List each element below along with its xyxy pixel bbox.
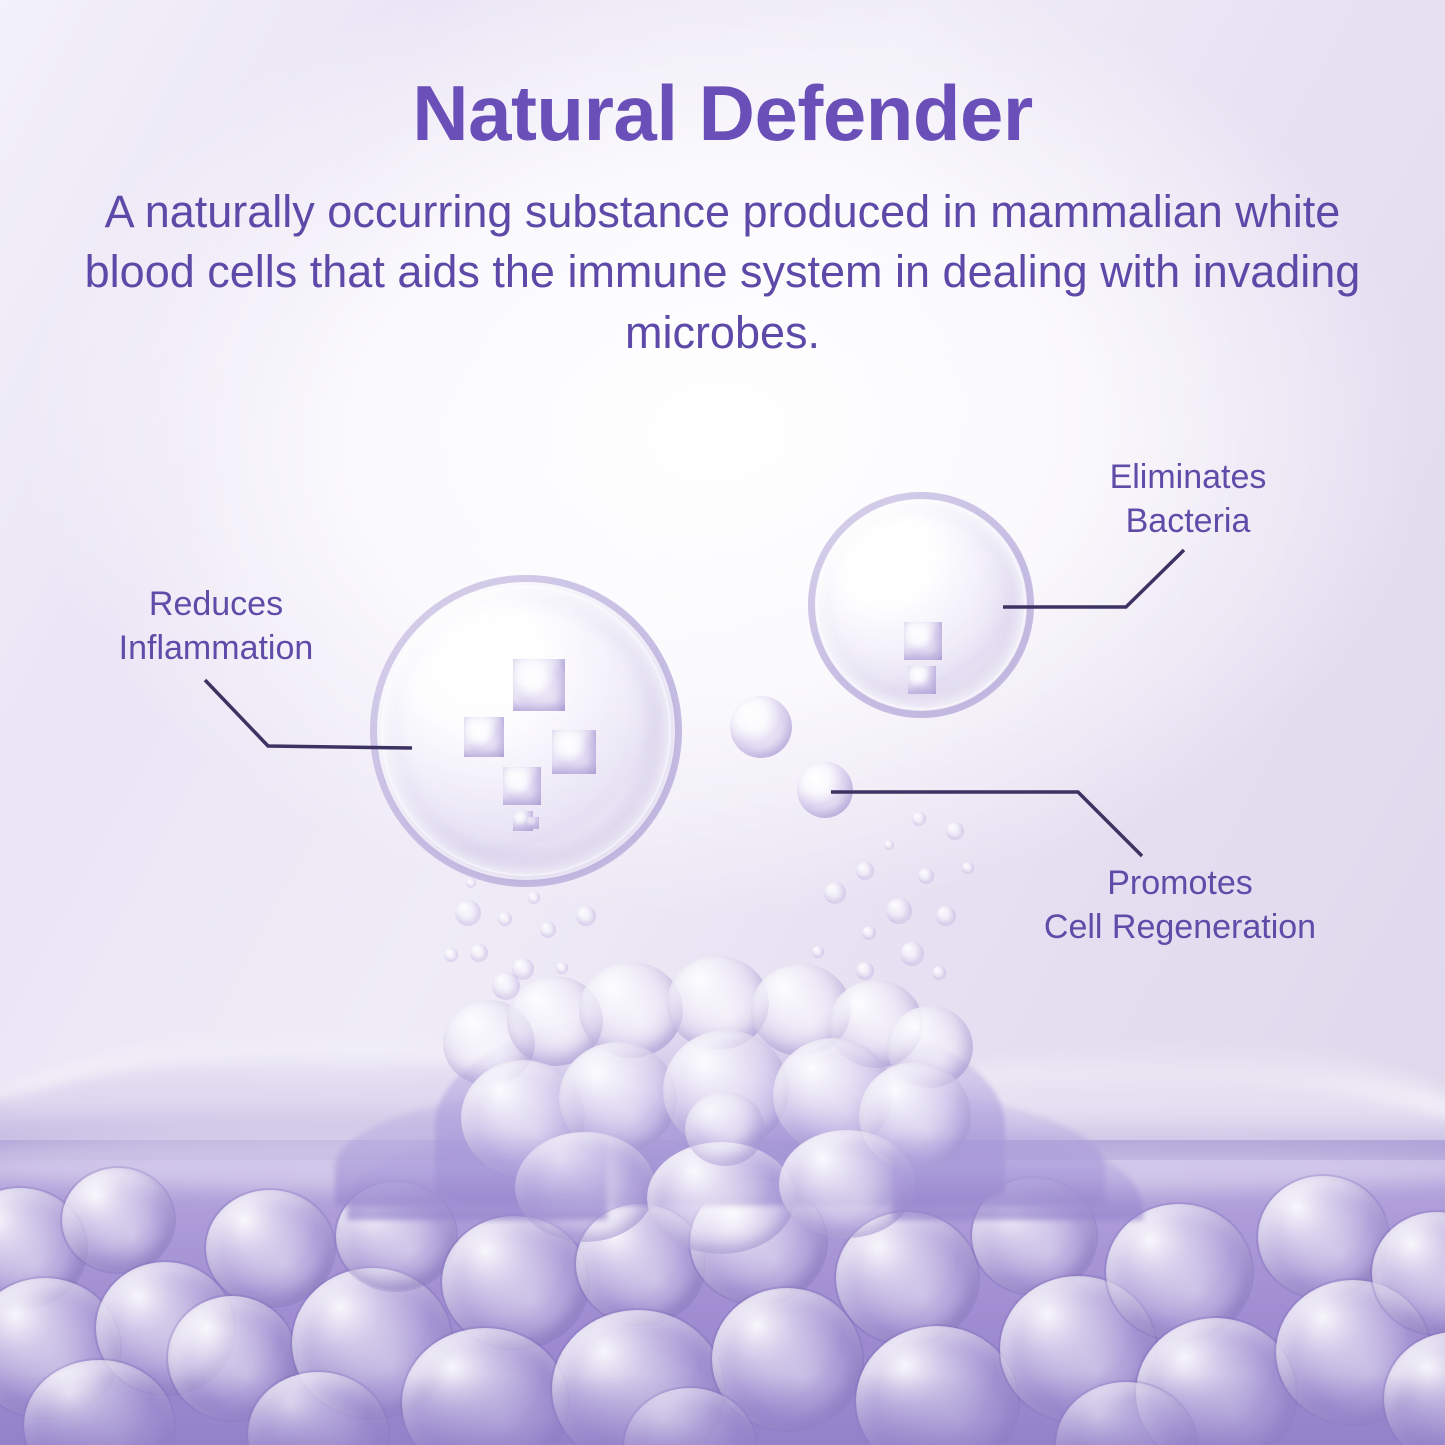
right-large-bubble [808, 492, 1034, 718]
header-text-block: Natural Defender A naturally occurring s… [0, 0, 1445, 363]
mid-small-bubble [730, 696, 792, 758]
left-large-bubble [370, 575, 682, 887]
infographic-canvas: Reduces Inflammation Eliminates Bacteria… [0, 0, 1445, 1445]
callout-label-reduces-inflammation: Reduces Inflammation [66, 583, 366, 670]
page-title: Natural Defender [0, 0, 1445, 152]
bubble-rim [808, 492, 1034, 718]
callout-label-eliminates-bacteria: Eliminates Bacteria [1028, 456, 1348, 543]
callout-label-promotes-cell-regeneration: Promotes Cell Regeneration [980, 862, 1380, 949]
bubble-rim [370, 575, 682, 887]
lower-small-bubble [797, 762, 853, 818]
page-subtitle: A naturally occurring substance produced… [78, 152, 1368, 363]
